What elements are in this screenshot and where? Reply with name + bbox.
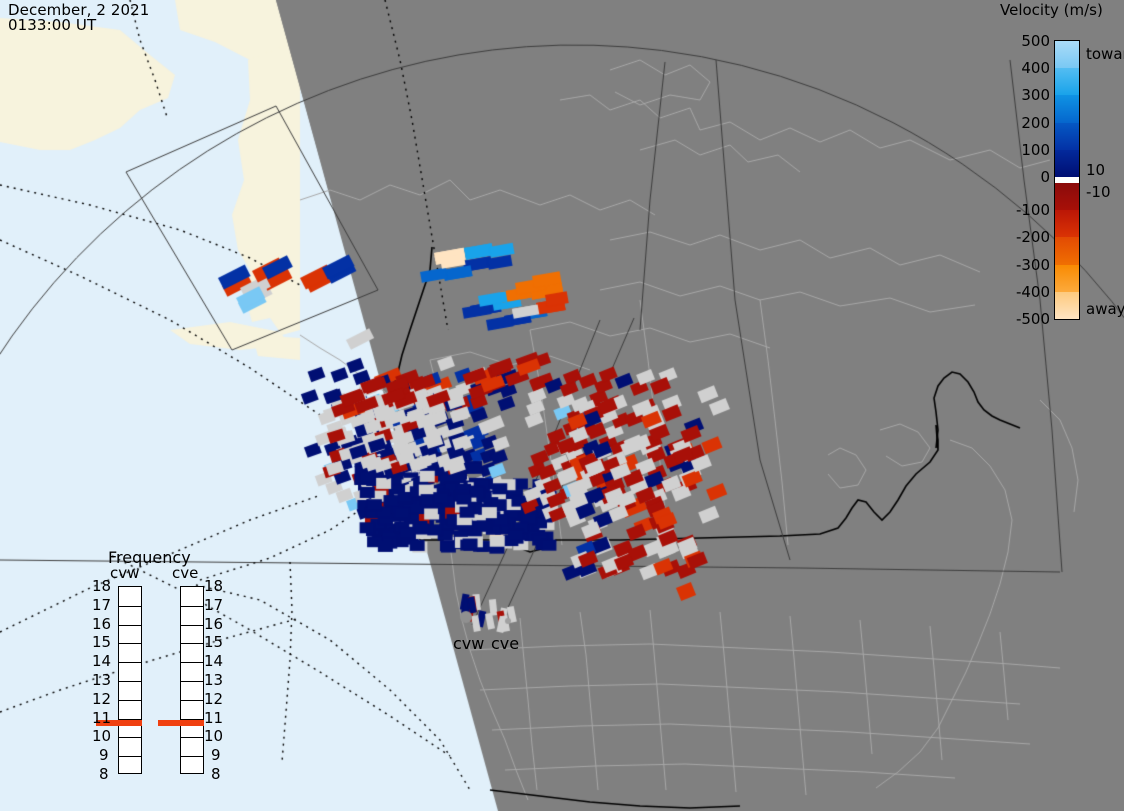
frequency-label-cve-9: 9 bbox=[211, 746, 221, 764]
frequency-scale-cve bbox=[180, 586, 204, 774]
superdarn-fan-plot: December, 2 2021 0133:00 UT Velocity (m/… bbox=[0, 0, 1124, 811]
colorbar-band--100-to--200 bbox=[1055, 210, 1079, 238]
frequency-label-cvw-13: 13 bbox=[92, 671, 111, 689]
frequency-scale-cvw bbox=[118, 586, 142, 774]
colorbar-band--10-to--100 bbox=[1055, 183, 1079, 211]
frequency-label-cve-18: 18 bbox=[204, 577, 223, 595]
colorbar-band-500-to-400 bbox=[1055, 41, 1079, 69]
colorbar-tick-300: 300 bbox=[1004, 86, 1050, 104]
frequency-tick bbox=[119, 737, 141, 738]
time-label: 0133:00 UT bbox=[8, 16, 96, 34]
colorbar-tick--100: -100 bbox=[1004, 201, 1050, 219]
velocity-data-canvas bbox=[0, 0, 1124, 811]
frequency-tick bbox=[119, 662, 141, 663]
colorbar-band-200-to-100 bbox=[1055, 123, 1079, 151]
frequency-label-cvw-11: 11 bbox=[92, 709, 111, 727]
frequency-label-cvw-18: 18 bbox=[92, 577, 111, 595]
frequency-label-cvw-9: 9 bbox=[99, 746, 109, 764]
frequency-label-cve-12: 12 bbox=[204, 690, 223, 708]
timestamp-block: December, 2 2021 0133:00 UT bbox=[8, 3, 149, 34]
velocity-colorbar bbox=[1054, 40, 1080, 320]
frequency-label-cve-8: 8 bbox=[211, 765, 221, 783]
frequency-tick bbox=[181, 625, 203, 626]
frequency-tick bbox=[119, 756, 141, 757]
frequency-marker-cve bbox=[158, 720, 204, 726]
colorbar-tick-200: 200 bbox=[1004, 114, 1050, 132]
colorbar-title: Velocity (m/s) bbox=[1000, 3, 1103, 18]
colorbar-band--400-to--500 bbox=[1055, 292, 1079, 320]
frequency-label-cvw-14: 14 bbox=[92, 652, 111, 670]
colorbar-zero-upper-label: 10 bbox=[1086, 161, 1105, 179]
frequency-tick bbox=[181, 643, 203, 644]
frequency-label-cvw-10: 10 bbox=[92, 727, 111, 745]
colorbar-tick--400: -400 bbox=[1004, 283, 1050, 301]
colorbar-band--300-to--400 bbox=[1055, 265, 1079, 293]
frequency-tick bbox=[181, 606, 203, 607]
frequency-label-cve-13: 13 bbox=[204, 671, 223, 689]
radar-site-label-cvw: cvw bbox=[453, 634, 484, 653]
frequency-label-cve-11: 11 bbox=[204, 709, 223, 727]
frequency-tick bbox=[181, 737, 203, 738]
frequency-label-cve-17: 17 bbox=[204, 596, 223, 614]
frequency-column-header-cve: cve bbox=[172, 564, 198, 582]
frequency-label-cvw-17: 17 bbox=[92, 596, 111, 614]
colorbar-tick--200: -200 bbox=[1004, 228, 1050, 246]
frequency-label-cve-14: 14 bbox=[204, 652, 223, 670]
colorbar-band-300-to-200 bbox=[1055, 95, 1079, 123]
frequency-label-cvw-12: 12 bbox=[92, 690, 111, 708]
frequency-tick bbox=[119, 700, 141, 701]
colorbar-tick-400: 400 bbox=[1004, 59, 1050, 77]
frequency-column-header-cvw: cvw bbox=[110, 564, 139, 582]
frequency-tick bbox=[119, 606, 141, 607]
colorbar-tick--500: -500 bbox=[1004, 310, 1050, 328]
colorbar-tick-100: 100 bbox=[1004, 141, 1050, 159]
colorbar-tick-0: 0 bbox=[1004, 168, 1050, 186]
frequency-tick bbox=[181, 700, 203, 701]
frequency-tick bbox=[181, 662, 203, 663]
frequency-tick bbox=[119, 625, 141, 626]
frequency-label-cve-16: 16 bbox=[204, 615, 223, 633]
radar-site-label-cve: cve bbox=[491, 634, 519, 653]
frequency-label-cvw-8: 8 bbox=[99, 765, 109, 783]
colorbar-toward-label: toward bbox=[1086, 45, 1124, 63]
frequency-tick bbox=[119, 681, 141, 682]
frequency-tick bbox=[181, 681, 203, 682]
colorbar-tick--300: -300 bbox=[1004, 256, 1050, 274]
frequency-label-cve-10: 10 bbox=[204, 727, 223, 745]
colorbar-away-label: away bbox=[1086, 300, 1124, 318]
frequency-tick bbox=[181, 756, 203, 757]
colorbar-zero-lower-label: -10 bbox=[1086, 183, 1111, 201]
frequency-label-cvw-15: 15 bbox=[92, 633, 111, 651]
frequency-tick bbox=[119, 643, 141, 644]
frequency-label-cvw-16: 16 bbox=[92, 615, 111, 633]
colorbar-band-100-to-10 bbox=[1055, 150, 1079, 178]
colorbar-band--200-to--300 bbox=[1055, 237, 1079, 265]
colorbar-tick-500: 500 bbox=[1004, 32, 1050, 50]
colorbar-band-400-to-300 bbox=[1055, 68, 1079, 96]
frequency-label-cve-15: 15 bbox=[204, 633, 223, 651]
